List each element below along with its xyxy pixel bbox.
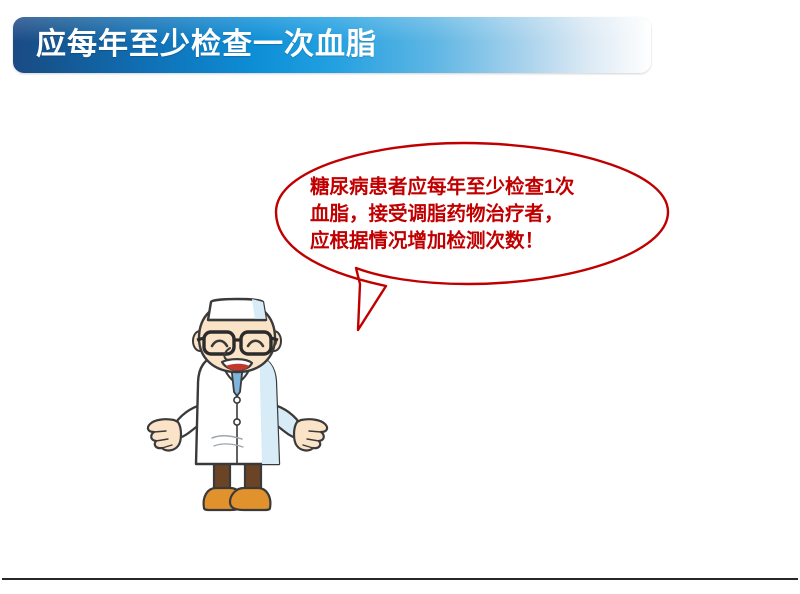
title-bar: 应每年至少检查一次血脂 xyxy=(13,17,651,73)
speech-bubble-text: 糖尿病患者应每年至少检查1次 血脂，接受调脂药物治疗者， 应根据情况增加检测次数… xyxy=(310,174,640,255)
footer-divider xyxy=(2,578,798,580)
doctor-cap xyxy=(208,299,266,320)
doctor-illustration xyxy=(142,296,332,521)
doctor-figure-icon xyxy=(142,296,332,521)
doctor-shoes xyxy=(204,488,271,510)
page-title: 应每年至少检查一次血脂 xyxy=(36,28,377,62)
slide-canvas: 应每年至少检查一次血脂 糖尿病患者应每年至少检查1次 血脂，接受调脂药物治疗者，… xyxy=(0,0,800,594)
